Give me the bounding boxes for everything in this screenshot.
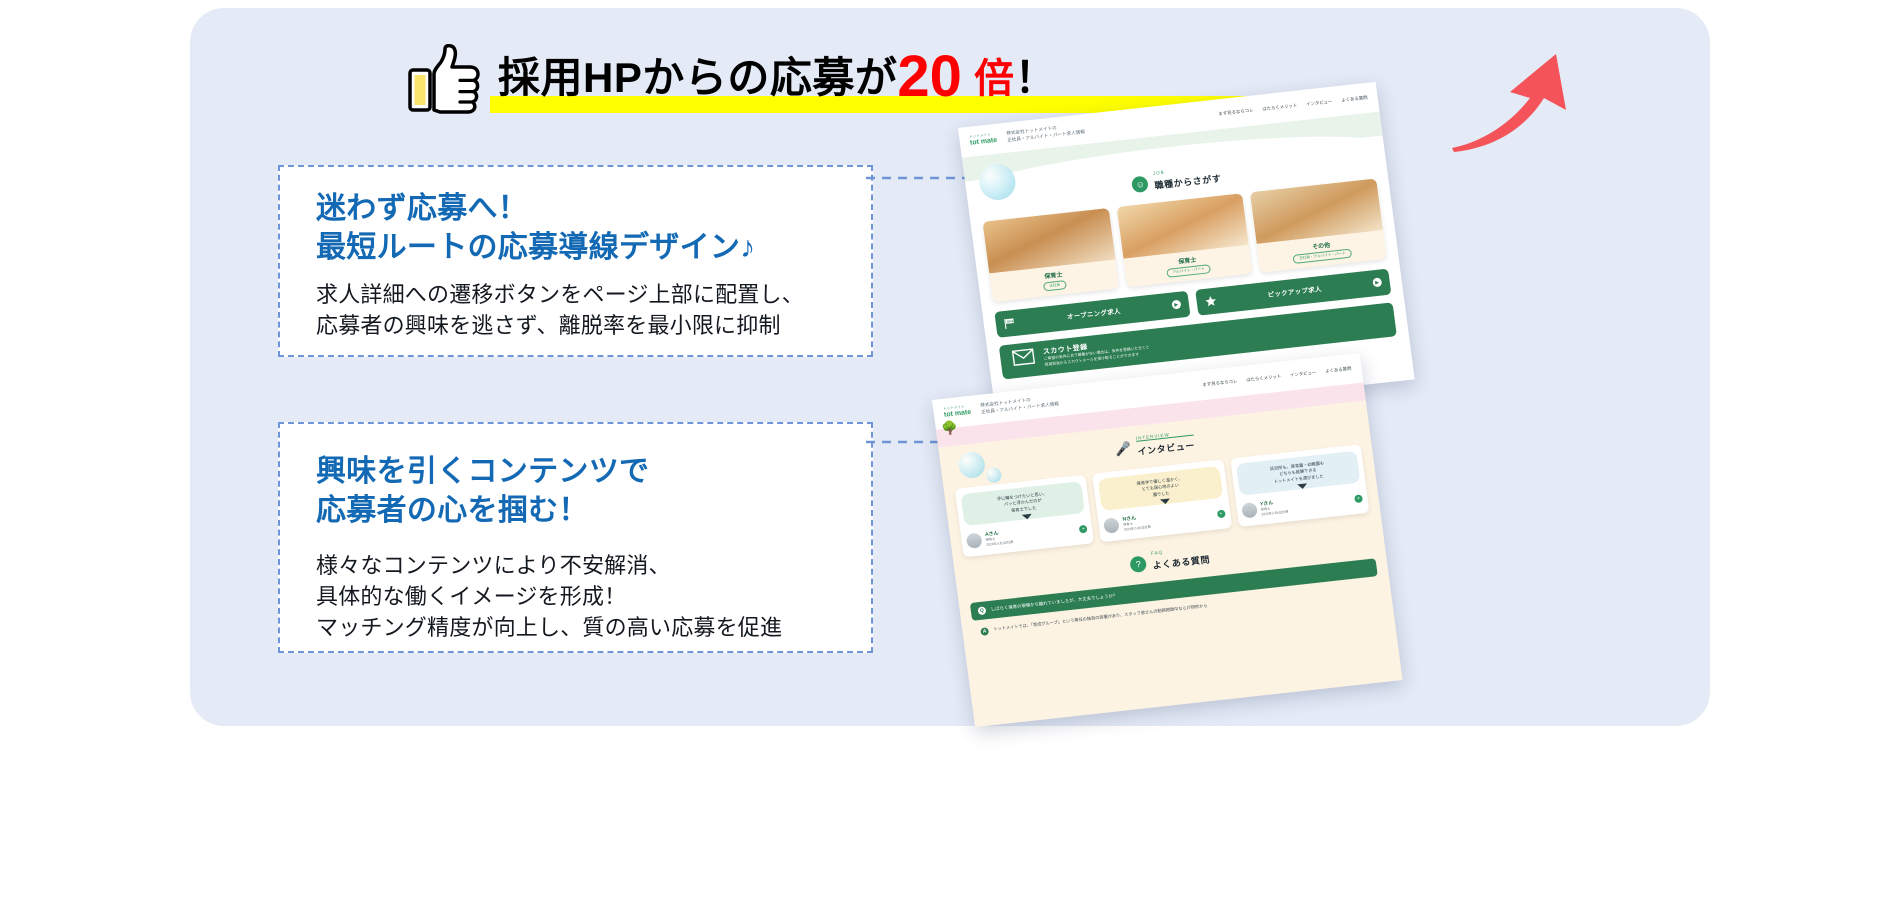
interview-section-jp: インタビュー — [1137, 441, 1196, 457]
info-box-1-body-line1: 求人詳細への遷移ボタンをページ上部に配置し、 — [316, 279, 871, 310]
nav-item-2[interactable]: インタビュー — [1306, 99, 1333, 108]
question-icon: ? — [1129, 555, 1147, 573]
info-box-2-body-line3: マッチング精度が向上し、質の高い応募を促進 — [316, 612, 871, 643]
plus-icon[interactable]: + — [1354, 494, 1363, 503]
nav-item-0[interactable]: まず見るならコレ — [1218, 107, 1254, 117]
nav-item-1[interactable]: はたらくメリット — [1246, 374, 1282, 384]
plus-icon[interactable]: + — [1216, 509, 1225, 518]
nav-item-3[interactable]: よくある質問 — [1341, 95, 1368, 104]
interview-card[interactable]: 手に職をつけたいと思い、 パッと浮かんだのが 保育士でした Aさん 保育士 20… — [955, 474, 1095, 557]
info-box-1-body-line2: 応募者の興味を逃さず、離脱率を最小限に抑制 — [316, 310, 871, 341]
avatar — [1241, 502, 1258, 519]
thumbs-up-icon — [408, 44, 482, 114]
info-box-2-heading-line1: 興味を引くコンテンツで — [316, 452, 871, 491]
avatar — [966, 533, 983, 550]
mail-icon — [1012, 348, 1037, 371]
headline-number: 20 — [897, 44, 962, 109]
growth-arrow-icon — [1444, 48, 1574, 158]
faq-section-jp: よくある質問 — [1152, 555, 1211, 571]
interview-card[interactable]: 託児所も、保育園・幼稚園も どちらも経験できる トットメイトを選びました Yさん… — [1230, 444, 1370, 527]
info-box-1-heading-line2: 最短ルートの応募導線デザイン♪ — [316, 228, 871, 267]
job-card[interactable]: 保育士 正社員 — [982, 208, 1119, 303]
plus-icon[interactable]: + — [1079, 524, 1088, 533]
site-logo-text: tot mate — [970, 137, 998, 147]
faq-question-text: しばらく保育の現場から離れていましたが、大丈夫でしょうか？ — [991, 593, 1118, 613]
nav-item-0[interactable]: まず見るならコレ — [1202, 378, 1238, 388]
job-card-tag: 正社員 — [1043, 280, 1067, 292]
info-box-1-heading-line1: 迷わず応募へ！ — [316, 189, 871, 228]
info-box-1: 迷わず応募へ！ 最短ルートの応募導線デザイン♪ 求人詳細への遷移ボタンをページ上… — [278, 165, 873, 357]
interview-section-en: INTERVIEW — [1136, 430, 1194, 442]
info-box-2-body-line2: 具体的な働くイメージを形成！ — [316, 581, 871, 612]
chevron-right-icon: ▶ — [1171, 300, 1181, 310]
website-mockups: トットメイト tot mate 株式会社トットメイトの 正社員・アルバイト・パー… — [930, 110, 1450, 710]
headline-exclamation: ！ — [1015, 54, 1058, 101]
interview-card[interactable]: 保育学で優しく温かく、 とても居心地のよい 園でした Nさん 保育士 2023年… — [1092, 459, 1232, 542]
mockup-bottom-nav: まず見るならコレ はたらくメリット インタビュー よくある質問 — [1202, 366, 1352, 388]
interview-quote: 手に職をつけたいと思い、 パッと浮かんだのが 保育士でした — [961, 481, 1086, 527]
site-logo[interactable]: トットメイト tot mate — [943, 405, 972, 419]
svg-text:OPEN: OPEN — [1006, 319, 1016, 324]
site-logo[interactable]: トットメイト tot mate — [969, 133, 998, 147]
faq-section-en: FAQ — [1151, 544, 1209, 555]
slide-root: 採用HPからの応募が20 倍！ 迷わず応募へ！ 最短ルートの応募導線デザイン♪ … — [0, 0, 1900, 900]
info-box-2: 興味を引くコンテンツで 応募者の心を掴む！ 様々なコンテンツにより不安解消、 具… — [278, 422, 873, 653]
answer-badge: A — [980, 628, 989, 637]
mockup-bottom-page[interactable]: トットメイト tot mate 株式会社トットメイトの 正社員・アルバイト・パー… — [932, 353, 1403, 727]
pickup-jobs-label: ピックアップ求人 — [1222, 280, 1367, 305]
flag-open-icon: OPEN — [1003, 317, 1016, 330]
chevron-right-icon: ▶ — [1372, 278, 1382, 288]
headline-unit: 倍 — [974, 57, 1015, 101]
headline-text: 採用HPからの応募が20 倍！ — [498, 44, 1057, 112]
job-card[interactable]: その他 正社員・アルバイト・パート — [1250, 178, 1387, 273]
avatar — [1103, 517, 1120, 534]
interview-quote: 託児所も、保育園・幼稚園も どちらも経験できる トットメイトを選びました — [1236, 450, 1361, 496]
question-badge: Q — [977, 607, 986, 616]
nav-item-1[interactable]: はたらくメリット — [1262, 103, 1298, 113]
person-search-icon: ☺ — [1131, 175, 1149, 193]
leaf-icon: 🌳 — [941, 419, 959, 437]
opening-jobs-label: オープニング求人 — [1021, 302, 1166, 327]
headline-main: 採用HPからの応募が — [498, 54, 897, 101]
site-logo-text: tot mate — [944, 409, 972, 419]
microphone-icon: 🎤 — [1114, 441, 1132, 459]
mockup-top-nav: まず見るならコレ はたらくメリット インタビュー よくある質問 — [1218, 95, 1368, 117]
star-icon — [1204, 295, 1217, 308]
nav-item-3[interactable]: よくある質問 — [1325, 366, 1352, 375]
nav-item-2[interactable]: インタビュー — [1290, 370, 1317, 379]
job-card[interactable]: 保育士 アルバイト・パート — [1116, 193, 1253, 288]
info-box-2-heading-line2: 応募者の心を掴む！ — [316, 491, 871, 530]
info-box-2-body-line1: 様々なコンテンツにより不安解消、 — [316, 550, 871, 581]
interview-quote: 保育学で優しく温かく、 とても居心地のよい 園でした — [1098, 465, 1223, 511]
